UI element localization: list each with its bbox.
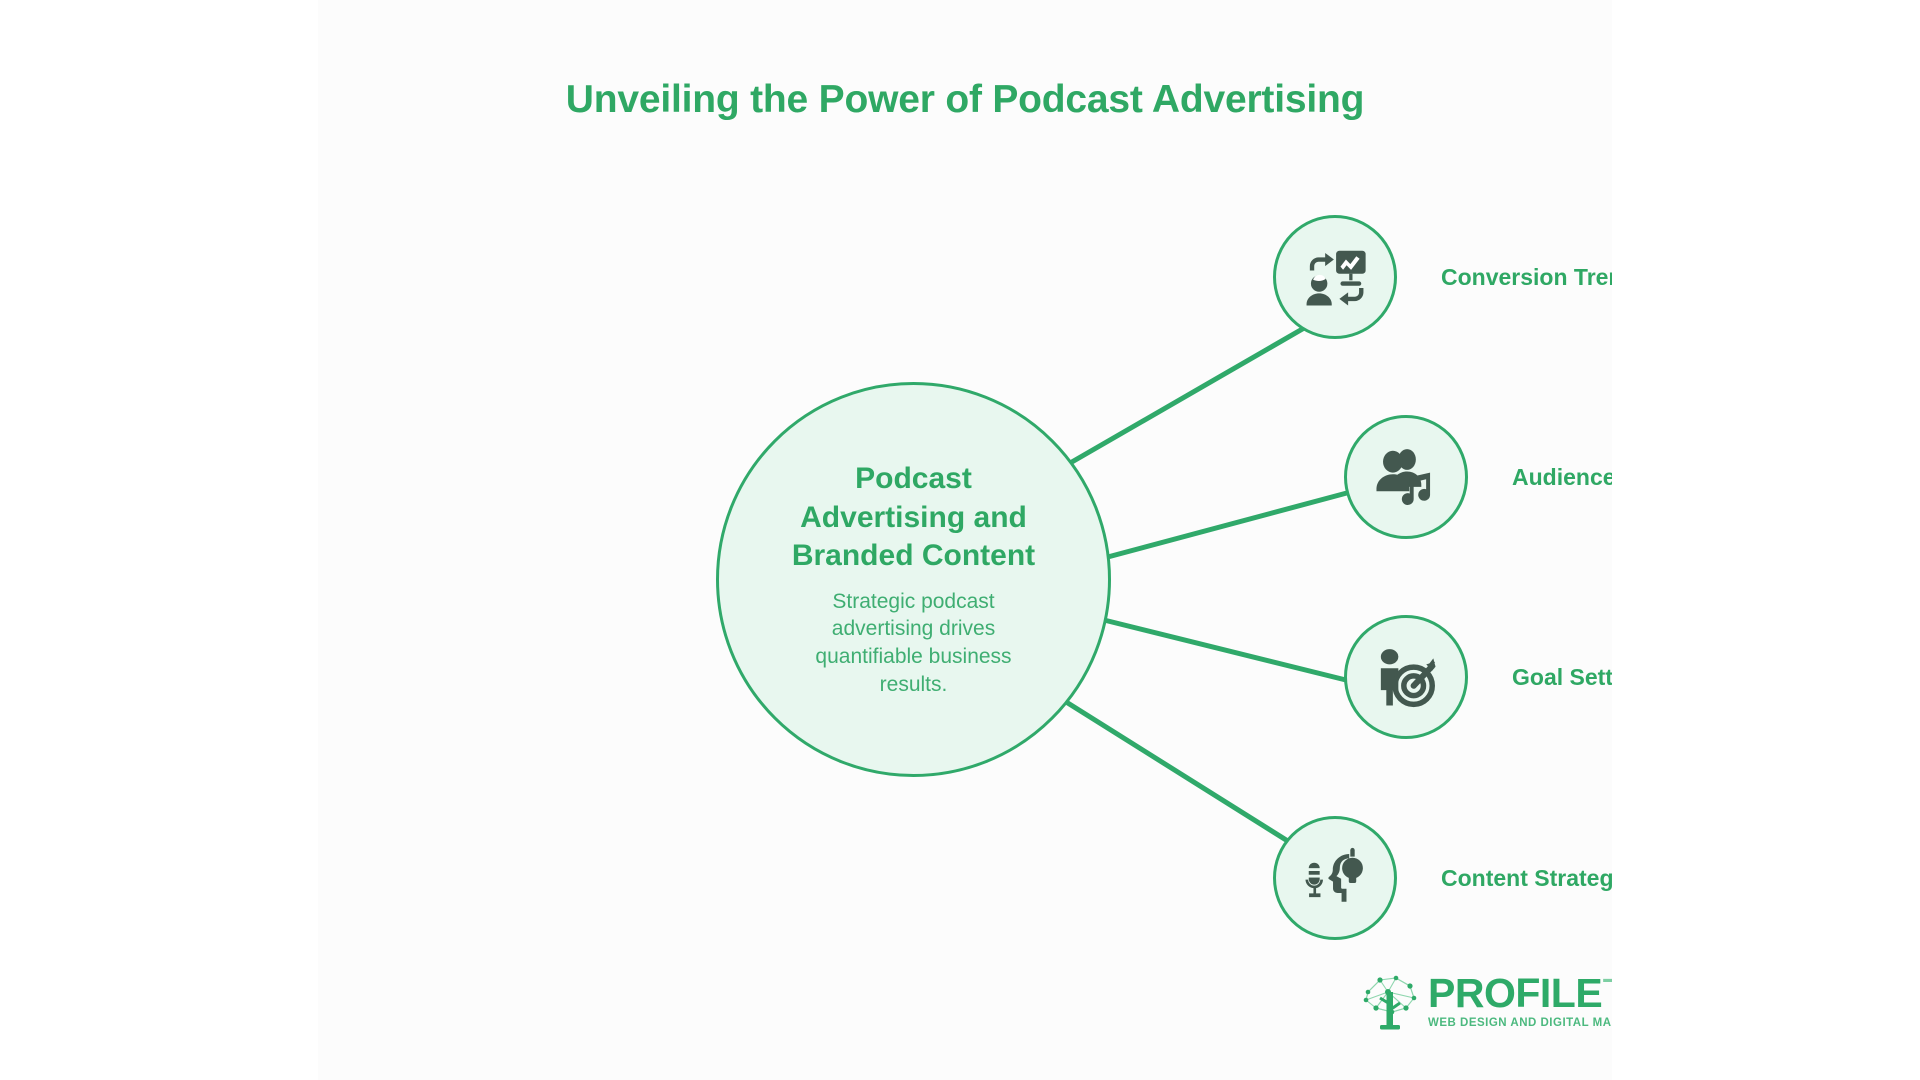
connector-line-2 [1104, 620, 1358, 683]
node-conversion-trends[interactable]: Conversion Trends [1273, 215, 1612, 339]
logo-word-profile: PROFILE [1428, 970, 1602, 1016]
node-label: Audience Behavior [1512, 464, 1612, 491]
audience-behavior-icon [1371, 442, 1441, 512]
node-content-strategy[interactable]: Content Strategy [1273, 816, 1612, 940]
node-circle[interactable] [1344, 615, 1468, 739]
logo-word-tree: TREE [1602, 970, 1612, 1016]
logo-text: PROFILETREE WEB DESIGN AND DIGITAL MARKE… [1428, 973, 1612, 1029]
connector-line-1 [1104, 490, 1358, 558]
node-label: Goal Setting [1512, 664, 1612, 691]
connector-line-0 [1058, 320, 1318, 470]
node-label: Content Strategy [1441, 865, 1612, 892]
content-strategy-icon [1300, 843, 1370, 913]
node-circle[interactable] [1344, 415, 1468, 539]
logo-tagline: WEB DESIGN AND DIGITAL MARKETING [1428, 1017, 1612, 1029]
profiletree-tree-icon [1358, 970, 1422, 1032]
node-circle[interactable] [1273, 816, 1397, 940]
central-node-description: Strategic podcast advertising drives qua… [781, 588, 1047, 699]
conversion-trends-icon [1300, 242, 1370, 312]
screenshot-root: Unveiling the Power of Podcast Advertisi… [0, 0, 1920, 1080]
node-goal-setting[interactable]: Goal Setting [1344, 615, 1612, 739]
node-circle[interactable] [1273, 215, 1397, 339]
profiletree-logo[interactable]: PROFILETREE WEB DESIGN AND DIGITAL MARKE… [1358, 970, 1612, 1032]
infographic-canvas: Unveiling the Power of Podcast Advertisi… [318, 0, 1612, 1080]
central-node-title: Podcast Advertising and Branded Content [779, 460, 1049, 575]
logo-wordmark: PROFILETREE [1428, 973, 1612, 1014]
node-audience-behavior[interactable]: Audience Behavior [1344, 415, 1612, 539]
central-node[interactable]: Podcast Advertising and Branded Content … [716, 382, 1111, 777]
node-label: Conversion Trends [1441, 264, 1612, 291]
goal-setting-icon [1371, 642, 1441, 712]
